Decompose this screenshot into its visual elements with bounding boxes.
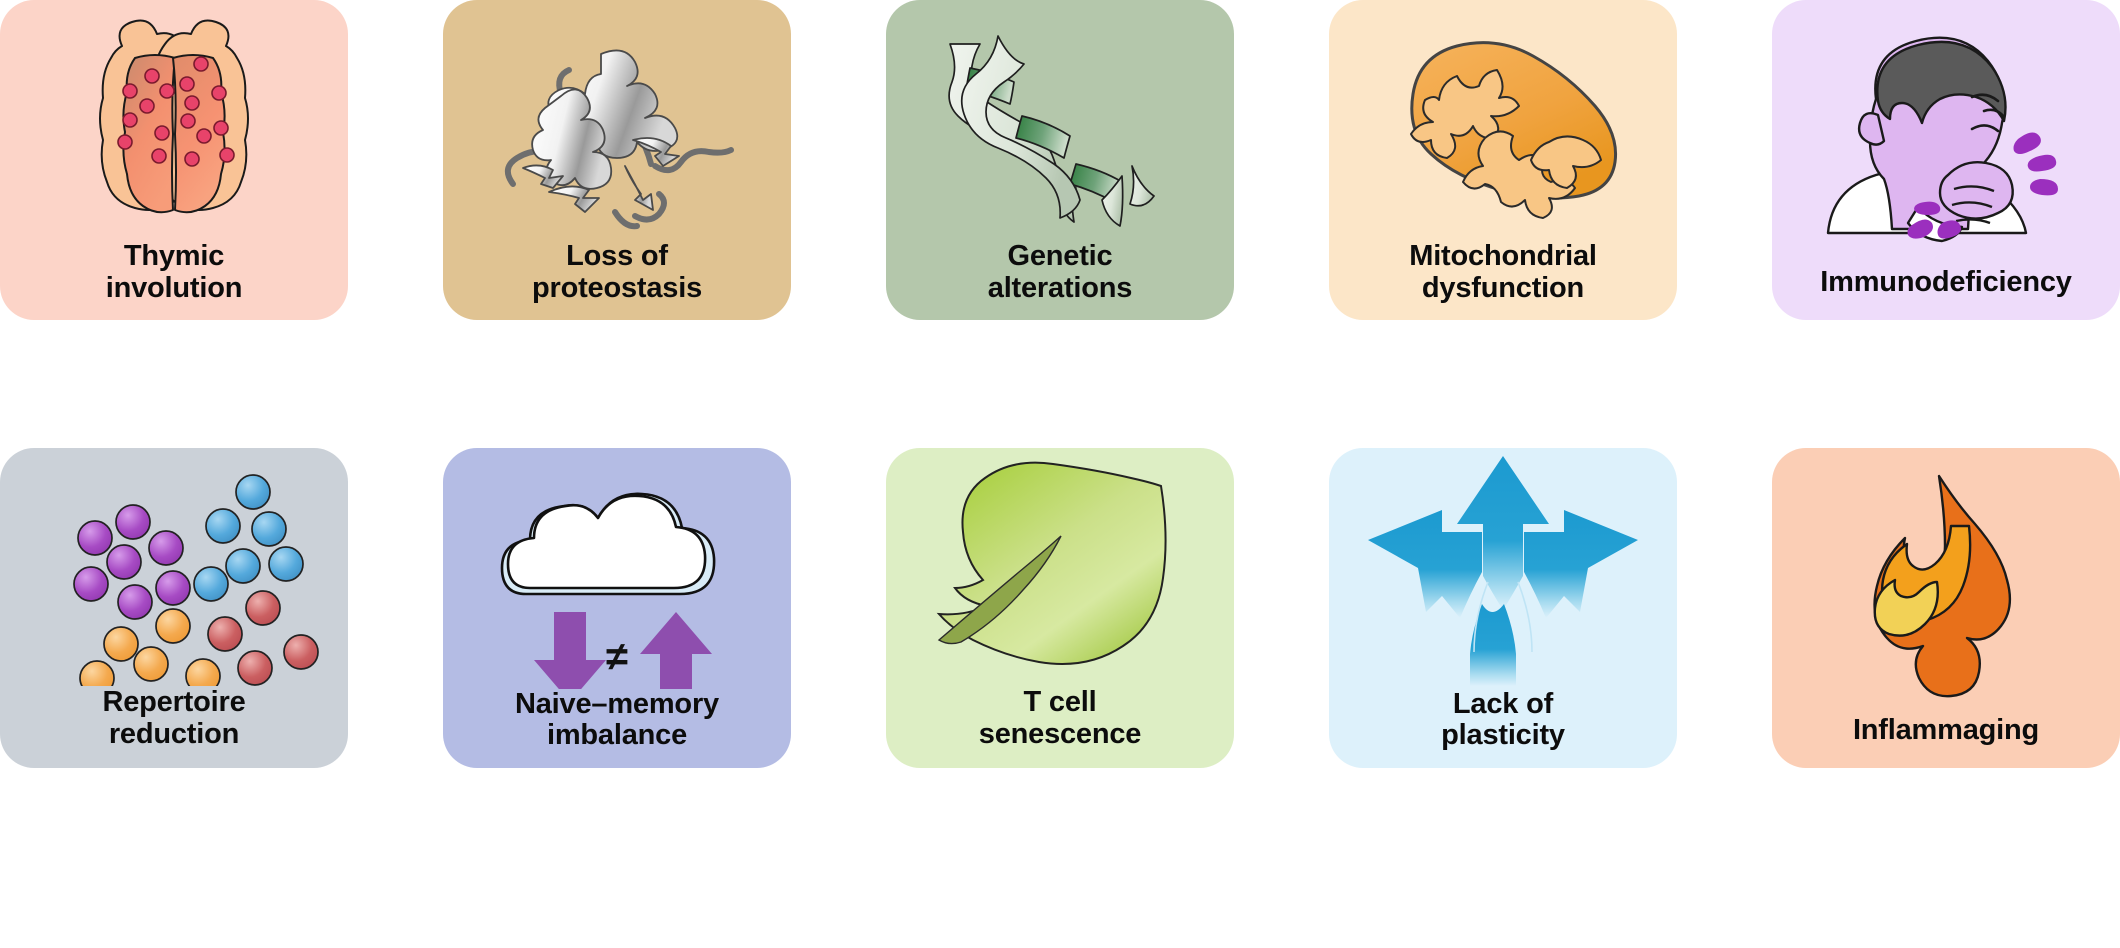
card-label: T cell senescence [886,687,1234,768]
card-naive-memory-imbalance[interactable]: ≠ Naive–memory imbalance [443,448,791,768]
protein-ribbon-icon [443,0,791,241]
thymus-icon [0,0,348,241]
card-label: Inflammaging [1772,715,2120,768]
flame-icon [1772,448,2120,715]
card-label: Naive–memory imbalance [443,689,791,768]
mitochondrion-icon [1329,0,1677,241]
up-arrow-icon [640,612,712,689]
coughing-person-icon [1772,0,2120,267]
card-repertoire-reduction[interactable]: Repertoire reduction [0,448,348,768]
card-thymic-involution[interactable]: Thymic involution [0,0,348,320]
hallmarks-grid: Thymic involution [0,0,2120,948]
down-arrow-icon [534,612,606,689]
card-mitochondrial-dysfunction[interactable]: Mitochondrial dysfunction [1329,0,1677,320]
three-way-arrows-icon [1329,448,1677,689]
card-label: Genetic alterations [886,241,1234,320]
cloud-arrows-icon: ≠ [443,448,791,689]
card-label: Immunodeficiency [1772,267,2120,320]
card-label: Thymic involution [0,241,348,320]
not-equal-symbol: ≠ [606,635,628,679]
leaf-icon [886,448,1234,687]
card-label: Repertoire reduction [0,687,348,768]
card-label: Lack of plasticity [1329,689,1677,768]
card-immunodeficiency[interactable]: Immunodeficiency [1772,0,2120,320]
card-label: Mitochondrial dysfunction [1329,241,1677,320]
card-inflammaging[interactable]: Inflammaging [1772,448,2120,768]
card-genetic-alterations[interactable]: Genetic alterations [886,0,1234,320]
card-loss-of-proteostasis[interactable]: Loss of proteostasis [443,0,791,320]
dna-helix-icon [886,0,1234,241]
card-t-cell-senescence[interactable]: T cell senescence [886,448,1234,768]
cell-cluster-icon [0,448,348,687]
card-label: Loss of proteostasis [443,241,791,320]
card-lack-of-plasticity[interactable]: Lack of plasticity [1329,448,1677,768]
